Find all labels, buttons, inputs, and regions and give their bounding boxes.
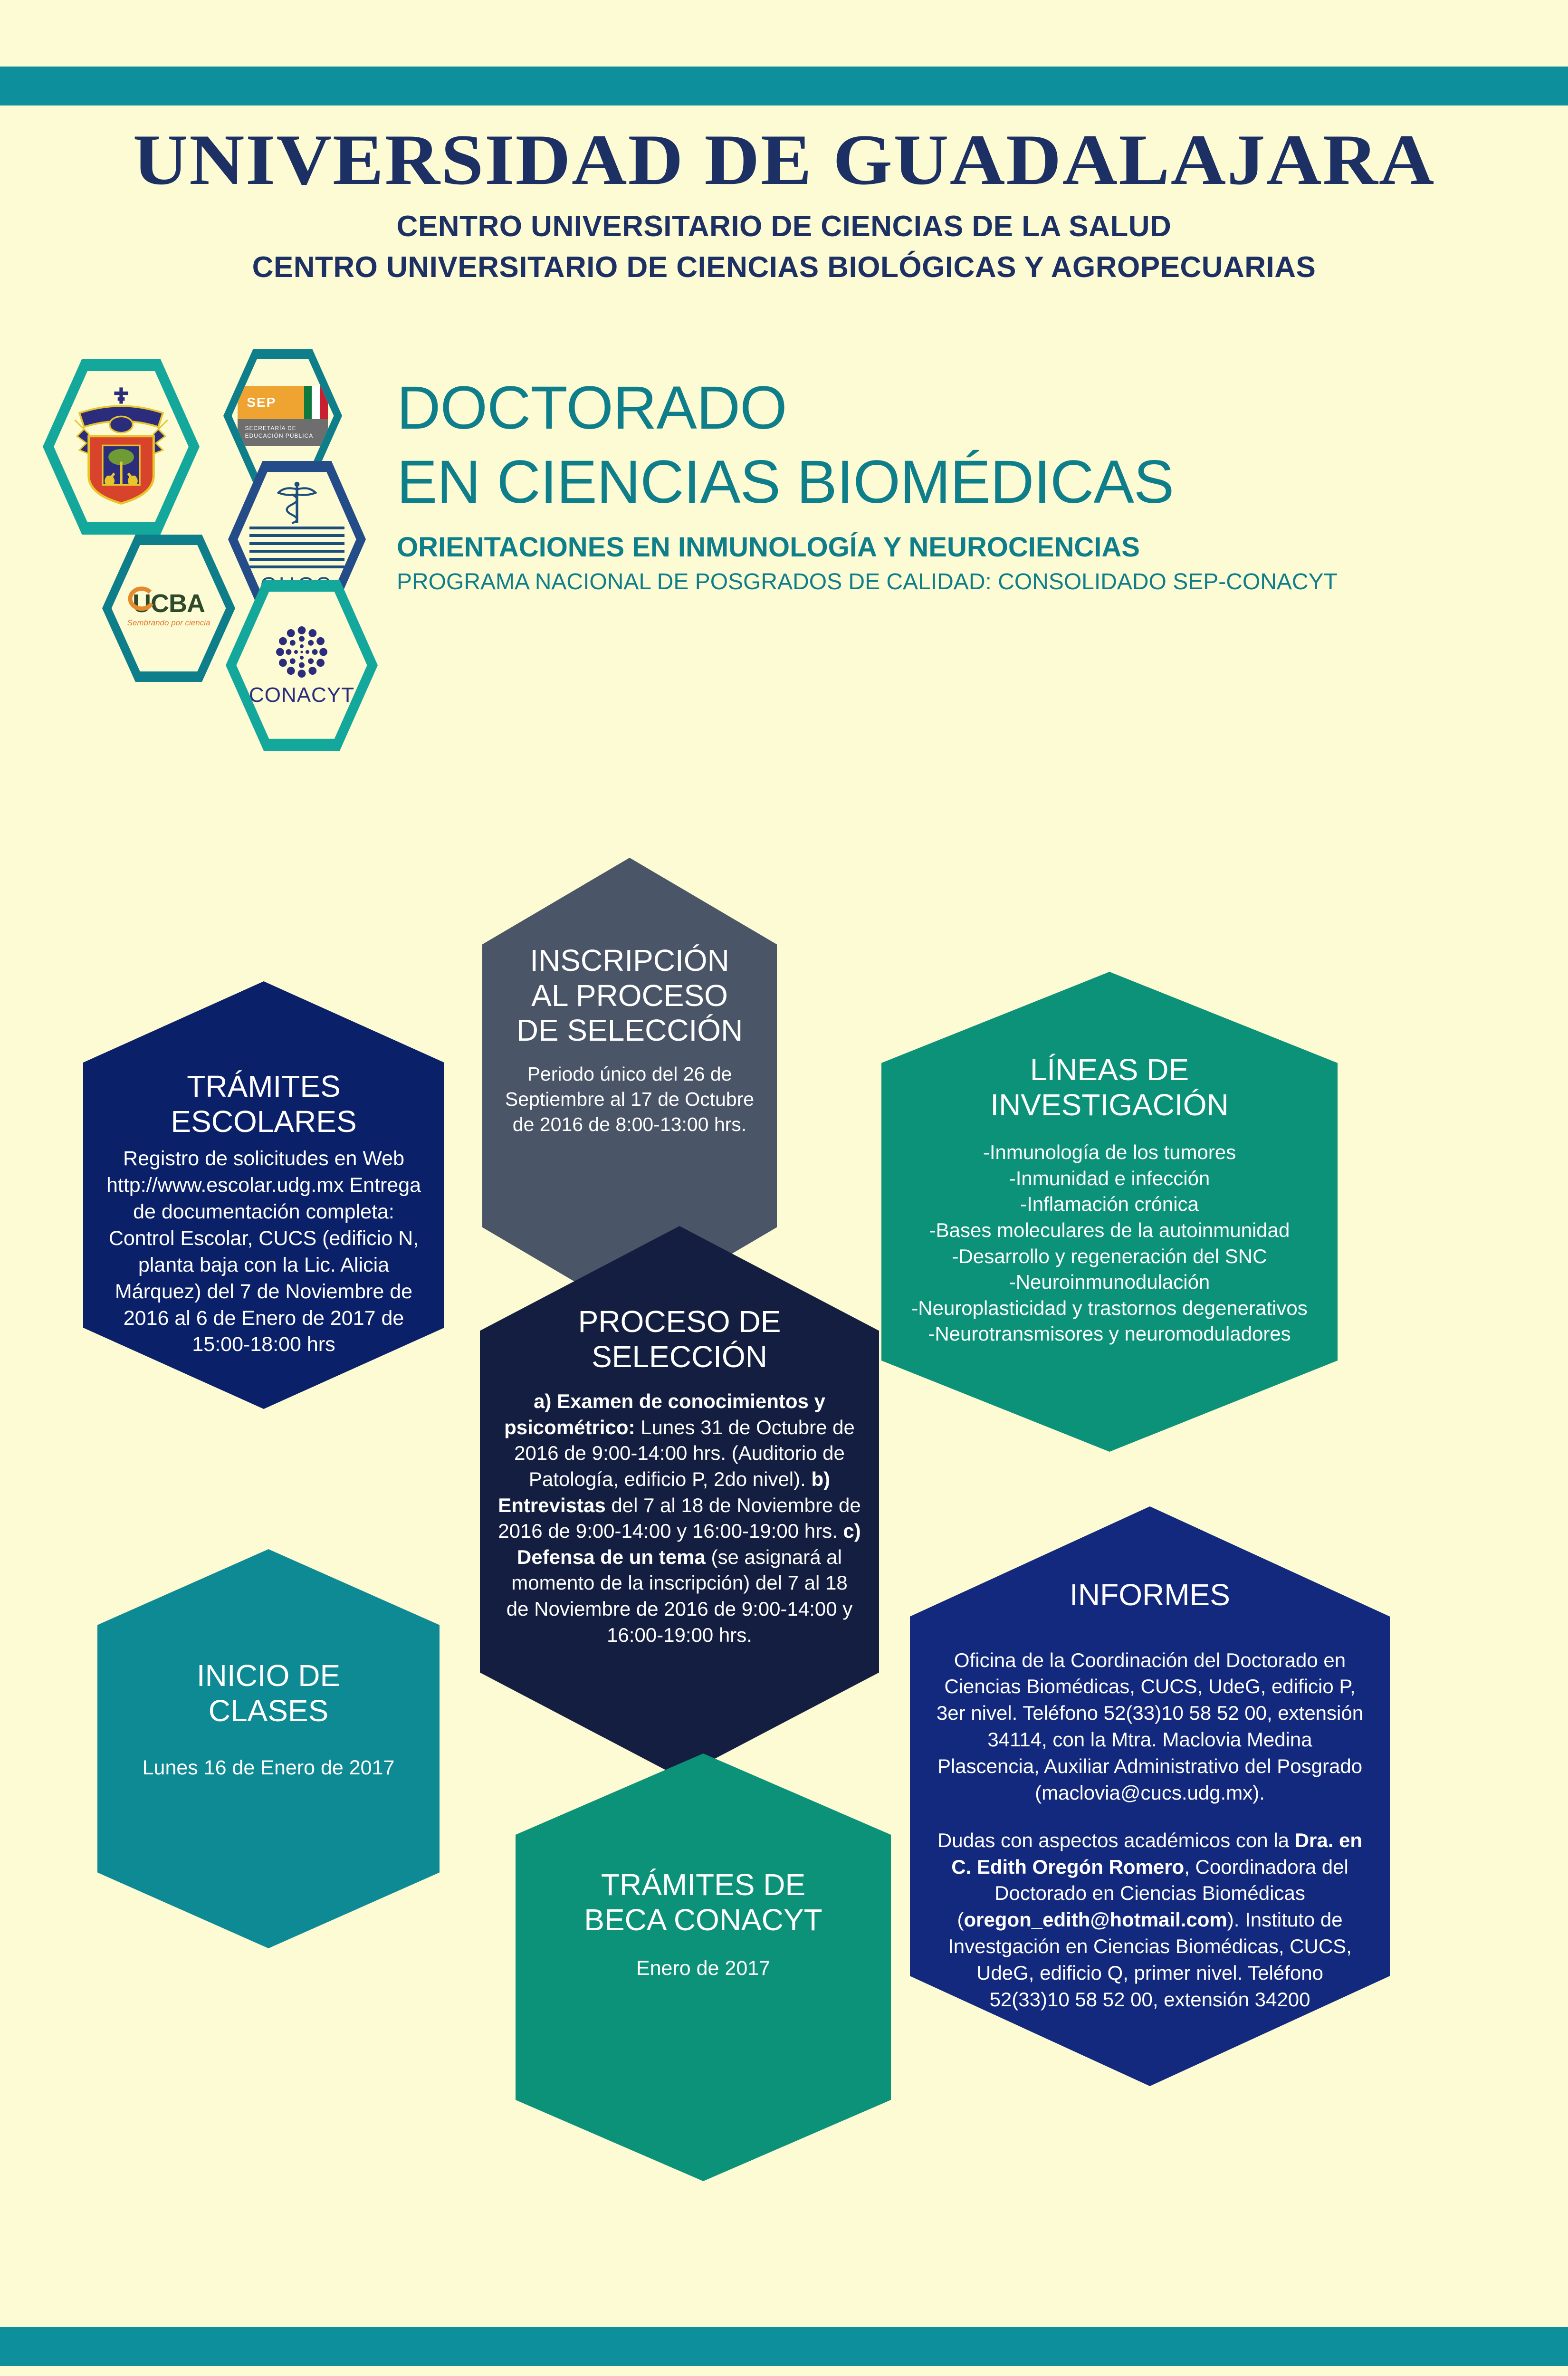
card-body: a) Examen de conocimientos y psicométric… xyxy=(498,1389,861,1648)
program-title-line2: EN CIENCIAS BIOMÉDICAS xyxy=(397,450,1518,515)
card-proceso-seleccion: PROCESO DESELECCIÓN a) Examen de conocim… xyxy=(480,1226,879,1777)
bottom-accent-bar xyxy=(0,2327,1568,2366)
program-title-block: DOCTORADO EN CIENCIAS BIOMÉDICAS ORIENTA… xyxy=(397,375,1518,595)
top-accent-bar xyxy=(0,67,1568,105)
conacyt-logo: CONACYT xyxy=(226,580,378,751)
ucba-tagline: Sembrando por ciencia xyxy=(127,618,210,628)
card-title: PROCESO DESELECCIÓN xyxy=(578,1304,781,1374)
card-tramites-beca-conacyt: TRÁMITES DEBECA CONACYT Enero de 2017 xyxy=(516,1753,891,2181)
card-body: Enero de 2017 xyxy=(636,1955,770,1982)
program-quality-label: PROGRAMA NACIONAL DE POSGRADOS DE CALIDA… xyxy=(397,569,1518,595)
card-body-paragraph-1: Oficina de la Coordinación del Doctorado… xyxy=(936,1647,1364,1806)
card-title: INFORMES xyxy=(1070,1578,1230,1613)
card-body-paragraph-2: Dudas con aspectos académicos con la Dra… xyxy=(936,1827,1364,2013)
card-body: Registro de solicitudes en Web http://ww… xyxy=(106,1146,421,1358)
program-orientations: ORIENTACIONES EN INMUNOLOGÍA Y NEUROCIEN… xyxy=(397,531,1518,563)
card-title: INICIO DECLASES xyxy=(197,1658,340,1728)
ucba-logo: UCBA Sembrando por ciencia xyxy=(102,535,235,682)
card-inicio-clases: INICIO DECLASES Lunes 16 de Enero de 201… xyxy=(97,1549,440,1948)
card-body: Periodo único del 26 de Septiembre al 17… xyxy=(502,1062,757,1138)
card-title: TRÁMITES DEBECA CONACYT xyxy=(584,1868,822,1937)
card-inscripcion: INSCRIPCIÓNAL PROCESODE SELECCIÓN Period… xyxy=(482,858,777,1314)
conacyt-dots-icon xyxy=(273,623,330,680)
card-body: -Inmunología de los tumores-Inmunidad e … xyxy=(911,1140,1307,1347)
university-title: UNIVERSIDAD DE GUADALAJARA xyxy=(0,124,1568,196)
card-title: LÍNEAS DEINVESTIGACIÓN xyxy=(990,1053,1228,1122)
center-line-cucs: CENTRO UNIVERSITARIO DE CIENCIAS DE LA S… xyxy=(0,207,1568,246)
card-title: INSCRIPCIÓNAL PROCESODE SELECCIÓN xyxy=(516,943,743,1048)
poster-header: UNIVERSIDAD DE GUADALAJARA CENTRO UNIVER… xyxy=(0,124,1568,287)
udg-crest-icon xyxy=(63,382,179,512)
card-body: Lunes 16 de Enero de 2017 xyxy=(143,1755,395,1782)
sep-subtitle: SECRETARÍA DE EDUCACIÓN PÚBLICA xyxy=(245,425,328,440)
ucba-swoosh-icon xyxy=(126,585,154,613)
conacyt-label: CONACYT xyxy=(249,683,354,707)
card-informes: INFORMES Oficina de la Coordinación del … xyxy=(910,1506,1390,2086)
program-title-line1: DOCTORADO xyxy=(397,375,1518,441)
udg-crest-logo xyxy=(43,359,200,535)
card-title: TRÁMITESESCOLARES xyxy=(171,1069,356,1139)
card-lineas-investigacion: LÍNEAS DEINVESTIGACIÓN -Inmunología de l… xyxy=(881,972,1338,1452)
caduceus-icon xyxy=(271,481,323,527)
sep-label: SEP xyxy=(247,395,276,410)
card-tramites-escolares: TRÁMITESESCOLARES Registro de solicitude… xyxy=(83,981,444,1409)
center-line-cucba: CENTRO UNIVERSITARIO DE CIENCIAS BIOLÓGI… xyxy=(0,248,1568,287)
logo-cluster: SEP SECRETARÍA DE EDUCACIÓN PÚBLICA CUCS xyxy=(38,349,380,739)
